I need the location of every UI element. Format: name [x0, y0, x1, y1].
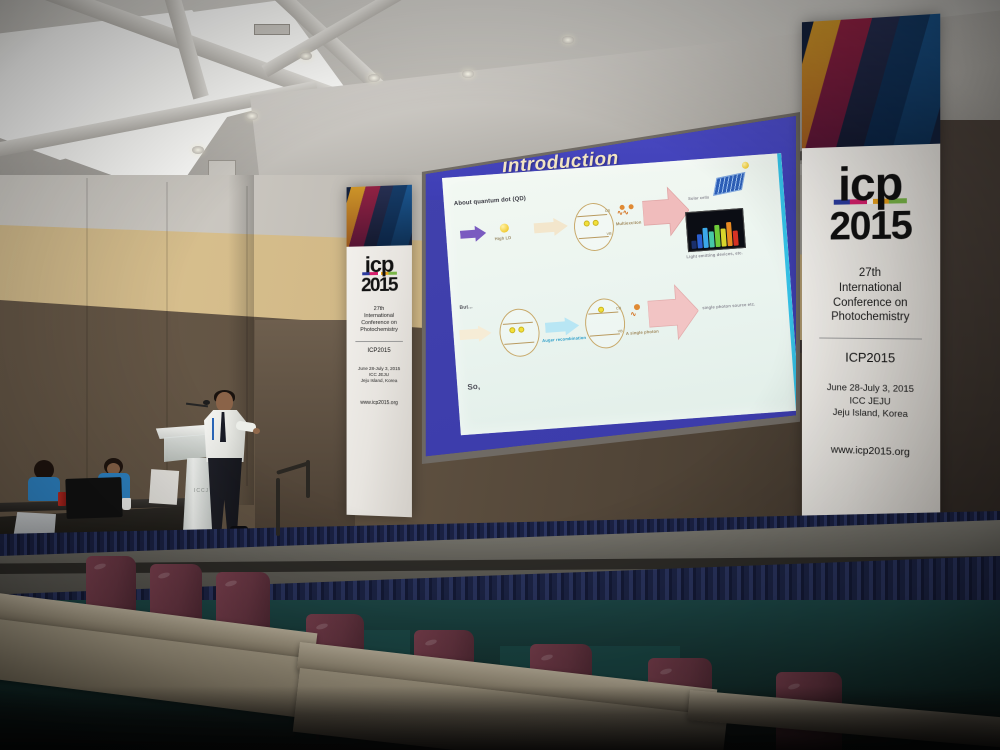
- speaker-badge-lanyard: [212, 418, 214, 440]
- banner-info-line: Jeju Island, Korea: [812, 407, 931, 423]
- speaker-presenter: [196, 392, 252, 542]
- banner-subtitle-line: 27th: [812, 266, 931, 281]
- banner-url: www.icp2015.org: [351, 399, 406, 406]
- exciton-icon: [628, 204, 633, 209]
- banner-logo-year: 2015: [812, 205, 931, 247]
- banner-divider: [819, 338, 922, 340]
- quantum-dot-diagram: [498, 307, 541, 358]
- ceiling-vent: [254, 24, 290, 35]
- monitor-screen: [65, 477, 122, 519]
- staff-torso: [28, 477, 60, 501]
- sun-icon: [742, 161, 749, 168]
- speaker-trousers: [208, 458, 242, 530]
- arrow-cyan-icon: [545, 316, 580, 336]
- spectrum-bar: [726, 222, 733, 246]
- arrow-cream-icon: [459, 325, 492, 343]
- banner-info-line: Jeju Island, Korea: [351, 378, 406, 384]
- arrow-pink-icon: [641, 184, 691, 239]
- solar-panel-icon: [713, 172, 745, 196]
- slide-lead-in: But...: [459, 304, 473, 311]
- handrail-post: [276, 478, 280, 536]
- banner-subtitle-line: International: [812, 281, 931, 296]
- banner-event-name: ICP2015: [812, 349, 931, 366]
- energy-label-vb: VB: [618, 329, 623, 333]
- energy-label-vb: VB: [606, 232, 611, 236]
- arrow-pink-icon: [646, 282, 700, 344]
- ceiling-spotlight-icon: [462, 70, 474, 78]
- presentation-slide: Introduction About quantum dot (QD) High…: [424, 116, 796, 458]
- arrow-cream-icon: [533, 217, 568, 237]
- slide-output-label-1: Solar cells: [688, 194, 709, 201]
- excitation-light-icon: [500, 223, 510, 233]
- foreground-shadow: [0, 686, 1000, 750]
- beverage-can: [58, 492, 66, 506]
- led-spectrum-image: [685, 208, 746, 252]
- banner-logo-icp: icp: [812, 160, 931, 206]
- slide-output-label-3: single photon source etc.: [702, 301, 755, 310]
- quantum-dot-diagram: [583, 297, 627, 350]
- spectrum-bar: [702, 228, 708, 248]
- banner-subtitle-line: Photochemistry: [812, 310, 931, 325]
- slide-closing-text: So,: [467, 382, 480, 392]
- ceiling-spotlight-icon: [562, 36, 574, 44]
- banner-subtitle-line: Conference on: [812, 296, 931, 311]
- photon-squiggle-icon: ∿∿: [617, 208, 629, 217]
- handrail-post: [306, 460, 310, 498]
- ceiling-spotlight-icon: [300, 52, 312, 60]
- energy-label-cb: CB: [616, 306, 622, 310]
- photon-squiggle-icon: ∿: [630, 310, 636, 318]
- banner-divider: [355, 341, 403, 342]
- banner-subtitle-line: Photochemistry: [351, 327, 406, 334]
- handrail-bar: [276, 461, 310, 475]
- banner-photo-collage: [802, 14, 940, 149]
- spectrum-bar: [733, 230, 739, 245]
- banner-logo-year: 2015: [351, 276, 406, 296]
- energy-label-cb: CB: [605, 209, 611, 213]
- stage-handrail: [276, 460, 318, 534]
- ceiling-spotlight-icon: [246, 112, 258, 120]
- lecture-hall-photo: Introduction About quantum dot (QD) High…: [0, 0, 1000, 750]
- speaker-hand: [253, 428, 260, 434]
- slide-source-label: High LD: [494, 235, 511, 241]
- spectrum-bar: [697, 234, 703, 248]
- arrow-purple-icon: [460, 225, 487, 243]
- ceiling-spotlight-icon: [192, 146, 204, 154]
- speaker-head: [216, 392, 233, 412]
- slide-section-label: About quantum dot (QD): [454, 196, 526, 207]
- slide-content-area: About quantum dot (QD) High LD CB VB: [442, 153, 796, 435]
- banner-event-name: ICP2015: [351, 348, 406, 354]
- conference-banner-left: icp 2015 27th International Conference o…: [347, 185, 412, 518]
- spectrum-bar: [691, 241, 697, 249]
- slide-process-label-1: Multiexciton: [616, 220, 642, 227]
- paper-cup: [122, 498, 131, 510]
- banner-photo-collage: [347, 185, 412, 247]
- banner-url: www.icp2015.org: [812, 443, 931, 459]
- wall-seam: [86, 178, 88, 498]
- banner-logo-icp: icp: [351, 254, 406, 275]
- ceiling-spotlight-icon: [368, 74, 380, 82]
- conference-banner-right: icp 2015 27th International Conference o…: [802, 14, 940, 575]
- projection-screen[interactable]: Introduction About quantum dot (QD) High…: [424, 116, 796, 458]
